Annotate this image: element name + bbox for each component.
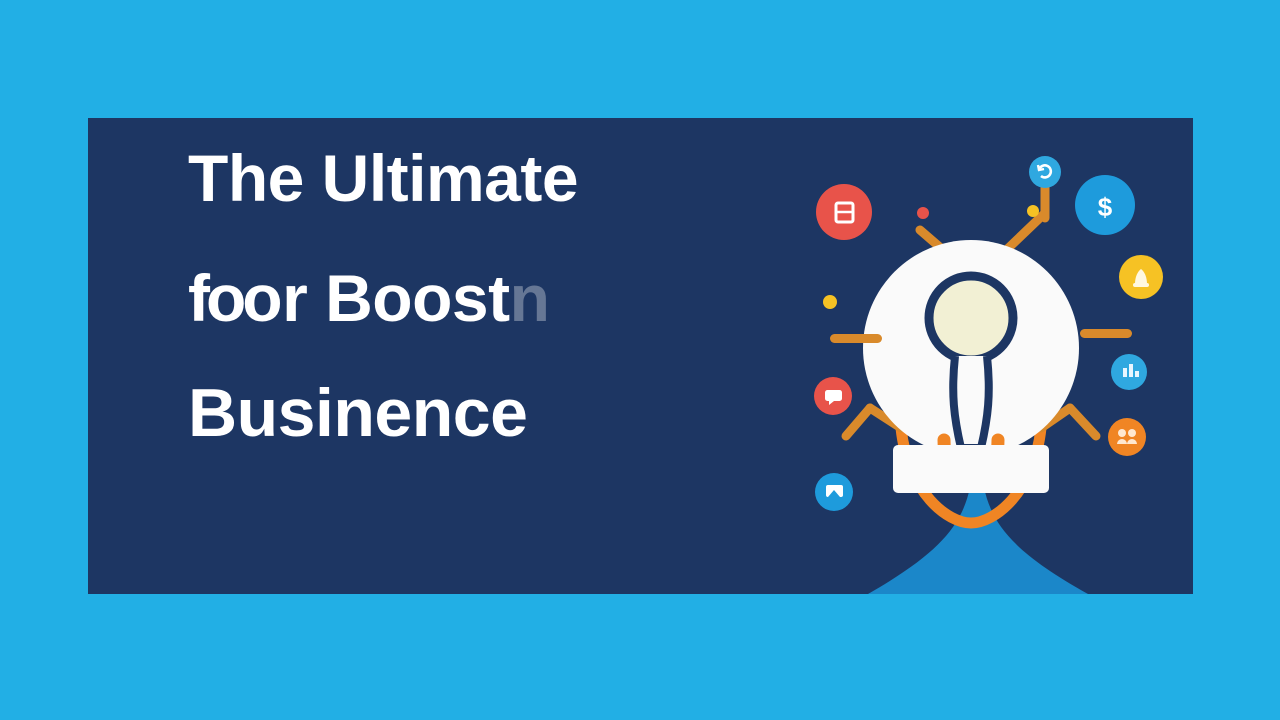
node-presentation-left <box>815 473 853 511</box>
headline-line-2: foor Boostn <box>188 260 828 336</box>
headline-line-3: Businence <box>188 374 828 452</box>
headline-block: The Ultimate foor Boostn Businence <box>188 140 828 452</box>
bar-left <box>830 334 882 343</box>
node-analytics-top <box>1029 156 1061 188</box>
node-chart-right <box>1111 354 1147 390</box>
node-money-right: $ <box>1075 175 1135 235</box>
bulb-plate <box>893 445 1049 493</box>
dot-yellow-top <box>1027 205 1039 217</box>
node-award-right <box>1119 255 1163 299</box>
node-people-right <box>1108 418 1146 456</box>
dot-red <box>917 207 929 219</box>
filament-loop <box>929 276 1013 360</box>
banner-canvas: $ <box>0 0 1280 720</box>
headline-line-2-part-b: or Boost <box>242 261 509 335</box>
filament-stem <box>953 356 989 448</box>
headline-line-2-part-a: fo <box>188 261 242 335</box>
banner-card: $ <box>88 118 1193 594</box>
svg-text:$: $ <box>1098 192 1113 222</box>
bar-right <box>1080 329 1132 338</box>
headline-line-1: The Ultimate <box>188 140 828 216</box>
headline-line-2-ghost: n <box>510 261 550 335</box>
